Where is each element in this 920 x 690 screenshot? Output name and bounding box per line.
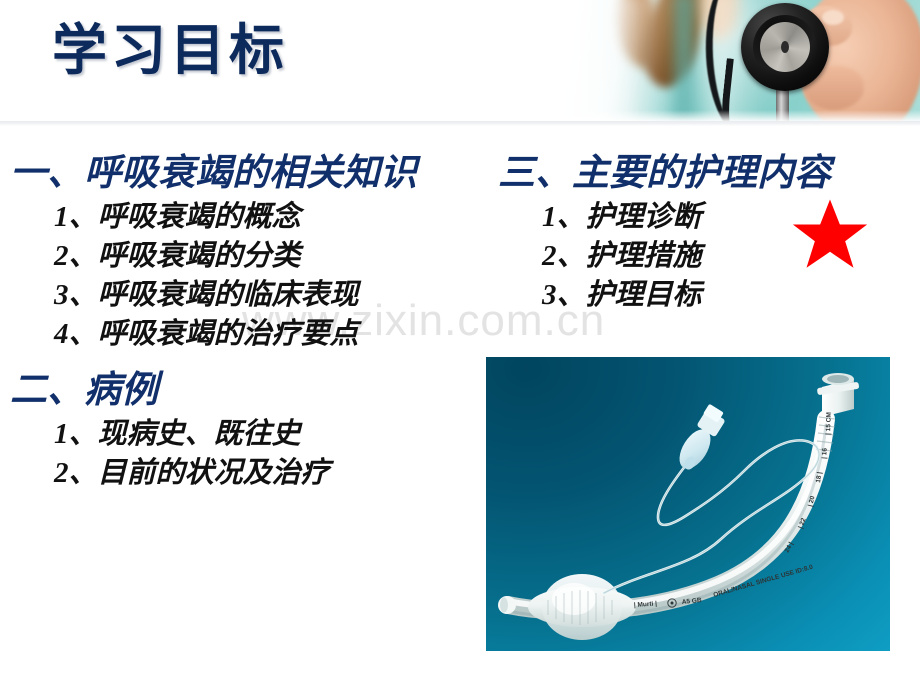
stethoscope-center-dot [781,41,789,53]
list-item: 1、呼吸衰竭的概念 [54,198,480,237]
section-2-list: 1、现病史、既往史 2、目前的状况及治疗 [10,415,480,493]
list-item: 2、目前的状况及治疗 [54,454,480,493]
tube-size-marking: A5 GB [681,597,702,606]
scrub-fold [666,0,702,122]
header-divider [0,121,920,126]
svg-text:| 15 CM: | 15 CM [825,412,833,435]
list-item: 1、现病史、既往史 [54,415,480,454]
slide-root: Nurse in teal scrubs holding a stethosco… [0,0,920,690]
list-item: 4、呼吸衰竭的治疗要点 [54,315,480,354]
section-heading-1: 一、呼吸衰竭的相关知识 [10,150,480,198]
left-content-column: 一、呼吸衰竭的相关知识 1、呼吸衰竭的概念 2、呼吸衰竭的分类 3、呼吸衰竭的临… [10,150,480,493]
svg-text:| 16: | 16 [821,447,829,459]
section-heading-2: 二、病例 [10,367,480,415]
page-title: 学习目标 [52,18,288,82]
section-heading-3: 三、主要的护理内容 [498,150,910,198]
photo-left-fade [470,0,640,122]
section-spacer [10,354,480,367]
list-item: 3、呼吸衰竭的临床表现 [54,276,480,315]
red-star-icon [792,198,868,270]
endotracheal-tube-photo: | Murti | A5 GB ORAL/NASAL SINGLE USE ID… [486,357,890,651]
list-item: 3、护理目标 [542,276,910,315]
tube-illustration: | Murti | A5 GB ORAL/NASAL SINGLE USE ID… [486,357,890,651]
section-1-list: 1、呼吸衰竭的概念 2、呼吸衰竭的分类 3、呼吸衰竭的临床表现 4、呼吸衰竭的治… [10,198,480,354]
fingernail [822,10,844,25]
list-item: 2、呼吸衰竭的分类 [54,237,480,276]
svg-text:| 20: | 20 [807,495,817,508]
header-nurse-photo: Nurse in teal scrubs holding a stethosco… [470,0,920,122]
